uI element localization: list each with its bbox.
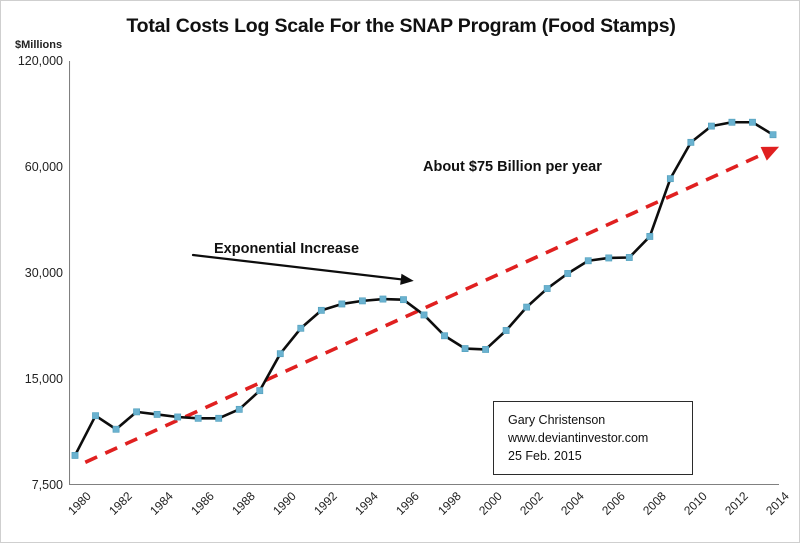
data-point-marker xyxy=(380,296,386,302)
credit-author: Gary Christenson xyxy=(508,411,692,429)
y-tick-label: 15,000 xyxy=(5,372,63,386)
x-tick-label: 2014 xyxy=(763,489,792,518)
x-tick-label: 1986 xyxy=(188,489,217,518)
data-point-marker xyxy=(606,255,612,261)
x-tick-label: 2002 xyxy=(517,489,546,518)
trend-arrowhead xyxy=(761,147,779,161)
credit-date: 25 Feb. 2015 xyxy=(508,447,692,465)
x-tick-label: 2006 xyxy=(599,489,628,518)
data-point-marker xyxy=(113,426,119,432)
data-point-marker xyxy=(72,452,78,458)
y-tick-label: 120,000 xyxy=(5,54,63,68)
data-point-marker xyxy=(441,333,447,339)
data-point-marker xyxy=(339,301,345,307)
x-tick-label: 1996 xyxy=(394,489,423,518)
x-axis-tick-labels: 1980198219841986198819901992199419961998… xyxy=(69,485,789,544)
credit-website: www.deviantinvestor.com xyxy=(508,429,692,447)
x-tick-label: 2000 xyxy=(476,489,505,518)
data-point-marker xyxy=(524,304,530,310)
x-tick-label: 1998 xyxy=(435,489,464,518)
data-point-marker xyxy=(749,119,755,125)
data-point-marker xyxy=(318,307,324,313)
data-point-marker xyxy=(175,414,181,420)
y-tick-label: 60,000 xyxy=(5,160,63,174)
page-title: Total Costs Log Scale For the SNAP Progr… xyxy=(1,15,800,38)
data-point-marker xyxy=(216,415,222,421)
data-point-marker xyxy=(708,123,714,129)
x-tick-label: 2004 xyxy=(558,489,587,518)
data-point-marker xyxy=(421,312,427,318)
x-tick-label: 1992 xyxy=(311,489,340,518)
data-point-marker xyxy=(626,254,632,260)
y-axis-unit-label: $Millions xyxy=(15,39,62,51)
data-point-marker xyxy=(585,258,591,264)
x-tick-label: 2010 xyxy=(681,489,710,518)
data-point-marker xyxy=(400,297,406,303)
data-point-marker xyxy=(544,285,550,291)
chart-container: Total Costs Log Scale For the SNAP Progr… xyxy=(0,0,800,543)
data-point-marker xyxy=(277,351,283,357)
data-point-marker xyxy=(770,132,776,138)
data-point-marker xyxy=(482,346,488,352)
credit-box: Gary Christenson www.deviantinvestor.com… xyxy=(493,401,693,475)
x-tick-label: 1984 xyxy=(147,489,176,518)
data-point-marker xyxy=(462,345,468,351)
annotation-peak-value: About $75 Billion per year xyxy=(423,159,602,175)
x-tick-label: 1990 xyxy=(270,489,299,518)
data-point-marker xyxy=(359,298,365,304)
y-axis-tick-labels: 120,00060,00030,00015,0007,500 xyxy=(1,61,63,485)
data-point-marker xyxy=(298,325,304,331)
data-point-marker xyxy=(92,413,98,419)
x-tick-label: 1988 xyxy=(229,489,258,518)
y-tick-label: 7,500 xyxy=(5,478,63,492)
x-tick-label: 1994 xyxy=(353,489,382,518)
data-point-marker xyxy=(133,409,139,415)
callout-arrowhead xyxy=(400,274,414,285)
data-point-marker xyxy=(236,406,242,412)
data-point-marker xyxy=(565,270,571,276)
data-point-marker xyxy=(729,119,735,125)
data-point-marker xyxy=(257,388,263,394)
data-point-marker xyxy=(154,411,160,417)
callout-arrow-group xyxy=(193,255,414,285)
data-point-marker xyxy=(195,415,201,421)
callout-line xyxy=(193,255,401,279)
data-point-marker xyxy=(688,139,694,145)
data-point-marker xyxy=(667,176,673,182)
data-point-marker xyxy=(647,233,653,239)
x-tick-label: 2008 xyxy=(640,489,669,518)
data-point-marker xyxy=(503,327,509,333)
x-tick-label: 1980 xyxy=(65,489,94,518)
y-tick-label: 30,000 xyxy=(5,266,63,280)
annotation-exponential-increase: Exponential Increase xyxy=(214,241,359,257)
x-tick-label: 1982 xyxy=(106,489,135,518)
x-tick-label: 2012 xyxy=(722,489,751,518)
